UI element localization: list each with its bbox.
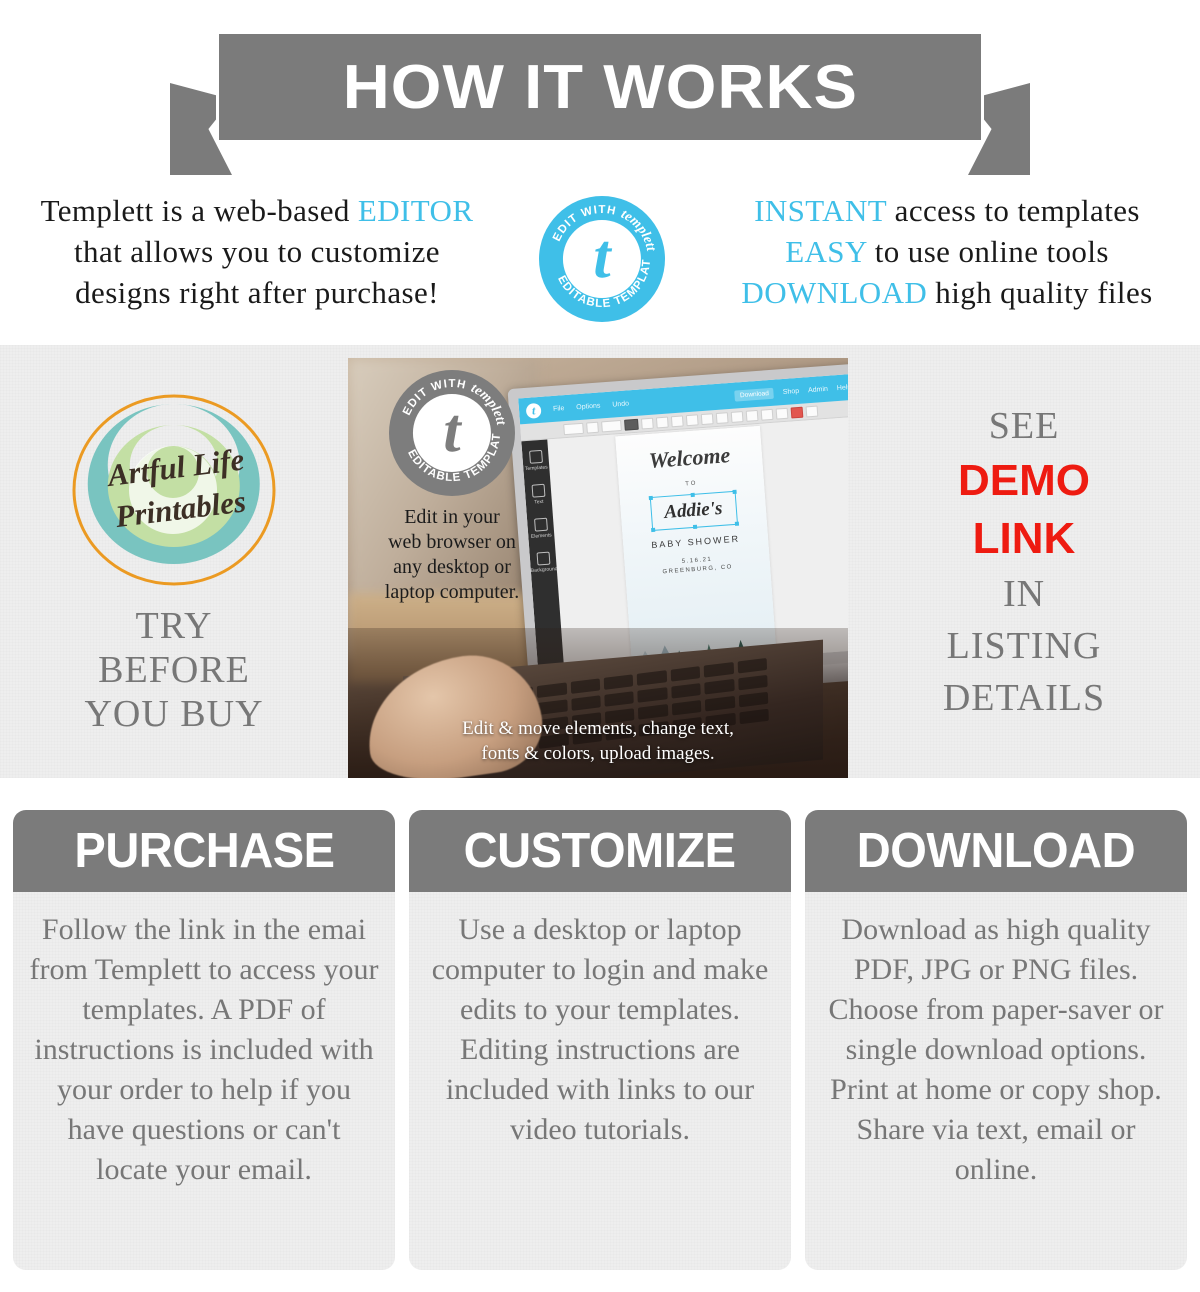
card-download-title: DOWNLOAD xyxy=(857,823,1135,879)
card-customize-title: CUSTOMIZE xyxy=(464,823,736,879)
resize-handle-top-left[interactable] xyxy=(648,496,652,500)
card-purchase-body: Follow the link in the emai from Templet… xyxy=(13,892,395,1270)
intro-text-left: Templett is a web-based EDITOR that allo… xyxy=(22,190,492,313)
card-customize: CUSTOMIZE Use a desktop or laptop comput… xyxy=(409,810,791,1270)
intro-right-line3-rest: high quality files xyxy=(927,275,1152,310)
demo-line-link: LINK xyxy=(973,510,1076,568)
opacity-button[interactable] xyxy=(745,409,758,421)
templett-gray-letter-icon: t xyxy=(443,400,460,462)
artful-life-printables-logo: Artful Life Printables xyxy=(68,390,280,590)
editor-topbar-actions: Download Shop Admin Help xyxy=(735,382,848,402)
duplicate-button[interactable] xyxy=(775,407,788,419)
photo-bottom-caption: Edit & move elements, change text, fonts… xyxy=(348,716,848,766)
resize-handle-top-right[interactable] xyxy=(732,490,736,494)
intro-text-right: INSTANT access to templates EASY to use … xyxy=(712,190,1182,313)
intro-row: Templett is a web-based EDITOR that allo… xyxy=(0,190,1200,340)
doc-welcome-text[interactable]: Welcome xyxy=(616,440,763,477)
templett-badge-gray-center: t xyxy=(413,394,491,472)
photo-caption-line-1: Edit in your xyxy=(385,505,519,530)
brand-column: Artful Life Printables TRY BEFORE YOU BU… xyxy=(0,345,348,778)
intro-right-download-highlight: DOWNLOAD xyxy=(741,275,927,310)
slogan-line-1: TRY xyxy=(84,604,263,648)
bold-button[interactable] xyxy=(640,417,653,429)
card-purchase-header: PURCHASE xyxy=(13,810,395,892)
editor-shop-link[interactable]: Shop xyxy=(783,387,800,395)
photo-bottom-caption-line-2: fonts & colors, upload images. xyxy=(348,741,848,766)
editor-download-button[interactable]: Download xyxy=(735,387,775,401)
photo-caption-line-3: any desktop or xyxy=(385,555,519,580)
photo-caption-line-4: laptop computer. xyxy=(385,580,519,605)
resize-handle-bottom-middle[interactable] xyxy=(692,525,696,529)
intro-right-line2: EASY to use online tools xyxy=(712,231,1182,272)
editor-menu-options[interactable]: Options xyxy=(576,402,601,411)
slogan-line-2: BEFORE xyxy=(84,648,263,692)
doc-event-text[interactable]: BABY SHOWER xyxy=(623,532,768,553)
photo-caption: Edit in your web browser on any desktop … xyxy=(385,505,519,605)
intro-left-line3: designs right after purchase! xyxy=(22,272,492,313)
demo-line-in: IN xyxy=(1003,568,1045,620)
underline-button[interactable] xyxy=(670,415,683,427)
intro-left-line1: Templett is a web-based EDITOR xyxy=(22,190,492,231)
intro-left-line1-pre: Templett is a web-based xyxy=(41,193,358,228)
demo-line-details: DETAILS xyxy=(943,672,1105,724)
templett-badge-center: t xyxy=(563,220,641,298)
doc-to-text[interactable]: TO xyxy=(619,476,764,493)
card-download-body: Download as high quality PDF, JPG or PNG… xyxy=(805,892,1187,1270)
letter-spacing-button[interactable] xyxy=(730,411,743,423)
resize-handle-bottom-left[interactable] xyxy=(651,528,655,532)
intro-right-line1: INSTANT access to templates xyxy=(712,190,1182,231)
intro-right-line3: DOWNLOAD high quality files xyxy=(712,272,1182,313)
editor-menu-file[interactable]: File xyxy=(553,405,565,413)
demo-line-demo: DEMO xyxy=(958,452,1090,510)
logo-swirl-icon xyxy=(68,390,280,590)
templett-badge-cyan: EDIT WITH templett EDITABLE TEMPLATE t xyxy=(539,196,665,322)
intro-right-line1-rest: access to templates xyxy=(887,193,1140,228)
slogan-line-3: YOU BUY xyxy=(84,692,263,736)
demo-line-listing: LISTING xyxy=(947,620,1102,672)
align-left-button[interactable] xyxy=(685,414,698,426)
editor-help-link[interactable]: Help xyxy=(837,384,848,392)
laptop-photo: t File Options Undo Download Shop Admin … xyxy=(348,358,848,778)
header-banner: HOW IT WORKS xyxy=(0,0,1200,175)
doc-name-text[interactable]: Addie's xyxy=(664,498,724,524)
intro-left-line2: that allows you to customize xyxy=(22,231,492,272)
card-purchase: PURCHASE Follow the link in the emai fro… xyxy=(13,810,395,1270)
card-purchase-title: PURCHASE xyxy=(74,823,334,879)
try-before-you-buy-text: TRY BEFORE YOU BUY xyxy=(84,604,263,736)
font-size-button[interactable] xyxy=(586,421,599,433)
rotate-button[interactable] xyxy=(760,408,773,420)
align-center-button[interactable] xyxy=(700,413,713,425)
doc-selected-textbox[interactable]: Addie's xyxy=(649,491,737,531)
resize-handle-bottom-right[interactable] xyxy=(734,522,738,526)
font-family-select[interactable] xyxy=(563,422,584,434)
demo-link-column: SEE DEMO LINK IN LISTING DETAILS xyxy=(848,345,1200,778)
photo-bottom-caption-line-1: Edit & move elements, change text, xyxy=(348,716,848,741)
templett-badge-gray: EDIT WITH templett EDITABLE TEMPLATE t xyxy=(389,370,515,496)
card-download-header: DOWNLOAD xyxy=(805,810,1187,892)
align-right-button[interactable] xyxy=(715,412,728,424)
italic-button[interactable] xyxy=(655,416,668,428)
steps-cards-row: PURCHASE Follow the link in the emai fro… xyxy=(0,810,1200,1270)
card-download: DOWNLOAD Download as high quality PDF, J… xyxy=(805,810,1187,1270)
card-customize-body: Use a desktop or laptop computer to logi… xyxy=(409,892,791,1270)
card-customize-header: CUSTOMIZE xyxy=(409,810,791,892)
background-icon xyxy=(536,552,550,566)
intro-right-line2-rest: to use online tools xyxy=(867,234,1109,269)
intro-right-instant-highlight: INSTANT xyxy=(754,193,886,228)
intro-right-easy-highlight: EASY xyxy=(785,234,866,269)
more-options-button[interactable] xyxy=(805,405,818,417)
line-height-button[interactable] xyxy=(601,420,622,432)
editor-admin-link[interactable]: Admin xyxy=(808,385,828,393)
resize-handle-top-middle[interactable] xyxy=(690,493,694,497)
delete-button[interactable] xyxy=(790,406,803,418)
photo-badge-block: EDIT WITH templett EDITABLE TEMPLATE t E… xyxy=(368,370,536,605)
demo-line-see: SEE xyxy=(989,400,1060,452)
photo-caption-line-2: web browser on xyxy=(385,530,519,555)
ribbon-plate: HOW IT WORKS xyxy=(216,31,984,143)
text-color-swatch[interactable] xyxy=(623,418,638,430)
intro-left-editor-highlight: EDITOR xyxy=(358,193,474,228)
editor-menu-undo[interactable]: Undo xyxy=(612,400,629,408)
templett-letter-icon: t xyxy=(593,226,610,288)
page-title: HOW IT WORKS xyxy=(342,52,857,123)
